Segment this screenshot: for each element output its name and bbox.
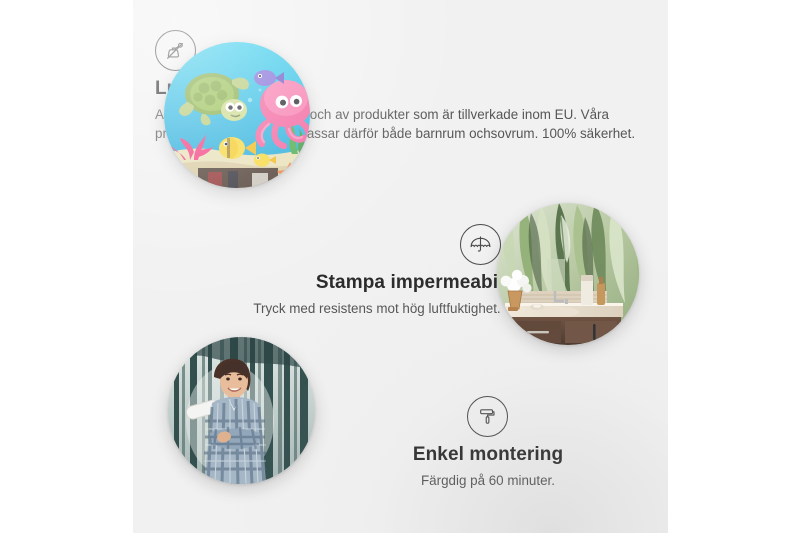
woman-with-paint-roller-forest-thumbnail xyxy=(168,337,315,484)
underwater-cartoon-mural-thumbnail xyxy=(164,42,310,188)
product-feature-graphic: Luktfri produkt Alla våra tavlor tillver… xyxy=(0,0,800,533)
feature-panel: Luktfri produkt Alla våra tavlor tillver… xyxy=(133,0,668,533)
umbrella-icon xyxy=(460,224,501,265)
bathroom-tropical-wallpaper-thumbnail xyxy=(497,203,639,345)
paint-roller-icon xyxy=(467,396,508,437)
